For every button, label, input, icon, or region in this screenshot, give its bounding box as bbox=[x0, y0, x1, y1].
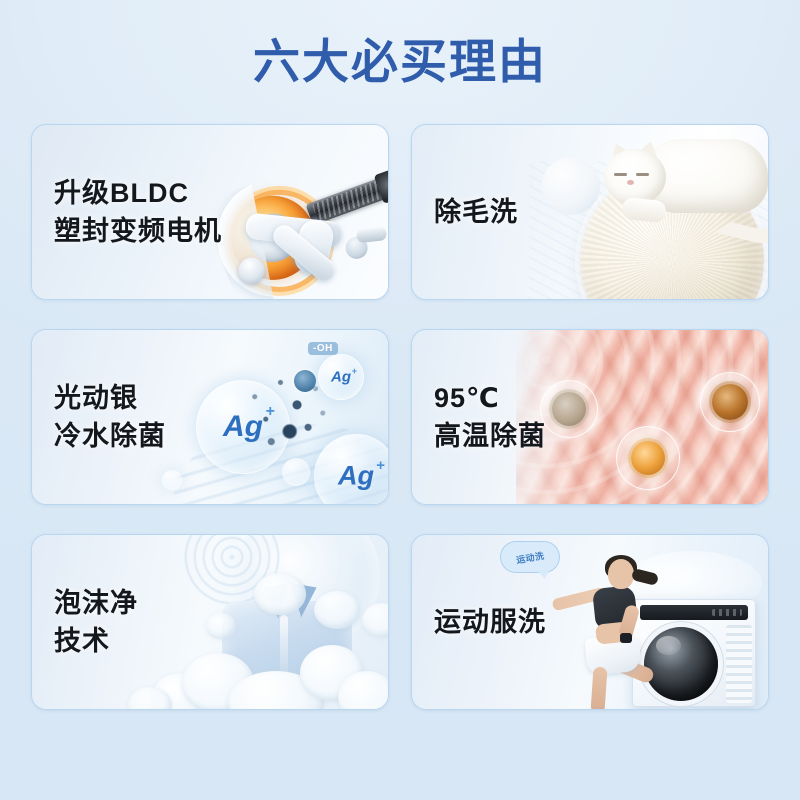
promo-page: 六大必买理由 bbox=[0, 0, 800, 800]
feature-label-line1: 运动服洗 bbox=[434, 607, 546, 637]
feature-card-high-temp-sterilize[interactable]: 95℃高温除菌 bbox=[411, 329, 769, 505]
bacteria-icon bbox=[712, 384, 748, 420]
feature-card-label: 升级BLDC塑封变频电机 bbox=[54, 174, 222, 250]
feature-label-line2: 技术 bbox=[54, 626, 110, 656]
cat-icon bbox=[598, 133, 768, 231]
feature-card-foam-clean[interactable]: 泡沫净技术 bbox=[31, 534, 389, 710]
feature-label-line2: 冷水除菌 bbox=[54, 421, 166, 451]
feature-card-pet-hair-wash[interactable]: 除毛洗 bbox=[411, 124, 769, 300]
shirt-collar-right bbox=[285, 583, 316, 619]
woman-leg-front bbox=[590, 667, 607, 709]
feature-card-label: 运动服洗 bbox=[434, 603, 546, 641]
cat-paw bbox=[621, 197, 667, 223]
speech-bubble-text: 运动洗 bbox=[515, 548, 545, 566]
silver-ion-bubble-small bbox=[162, 470, 182, 490]
feature-label-line2: 高温除菌 bbox=[434, 421, 546, 451]
cat-eye-left bbox=[614, 173, 627, 176]
silver-ion-bubble-small bbox=[282, 458, 310, 486]
shirt-icon bbox=[222, 579, 352, 689]
feature-label-line1: 除毛洗 bbox=[434, 197, 518, 227]
bracket-knob bbox=[236, 255, 267, 286]
oh-radical-badge: -OH bbox=[308, 342, 338, 355]
silver-ion-bubble: Ag + bbox=[318, 354, 364, 400]
feature-label-line2: 塑封变频电机 bbox=[54, 216, 222, 246]
washer-side-vents bbox=[726, 625, 752, 703]
page-title: 六大必买理由 bbox=[253, 36, 547, 88]
feature-label-line1: 光动银 bbox=[54, 383, 138, 413]
feature-card-label: 光动银冷水除菌 bbox=[54, 379, 166, 455]
bacteria-icon bbox=[631, 441, 665, 475]
smart-watch-icon bbox=[620, 633, 632, 643]
feature-card-label: 泡沫净技术 bbox=[54, 584, 138, 660]
speech-bubble: 运动洗 bbox=[500, 541, 560, 573]
bracket-pin bbox=[356, 226, 387, 243]
woman-ponytail bbox=[631, 568, 659, 586]
page-title-wrap: 六大必买理由 bbox=[0, 36, 800, 88]
feature-label-line1: 泡沫净 bbox=[54, 588, 138, 618]
feature-card-label: 95℃高温除菌 bbox=[434, 379, 546, 455]
ag-plus-superscript: + bbox=[352, 366, 357, 376]
germ-icon bbox=[294, 370, 316, 392]
bacteria-icon bbox=[552, 392, 586, 426]
woman-head bbox=[608, 559, 634, 589]
cat-eye-right bbox=[636, 173, 649, 176]
feature-card-bldc-motor[interactable]: 升级BLDC塑封变频电机 bbox=[31, 124, 389, 300]
ag-plus-superscript: + bbox=[376, 457, 385, 474]
bacteria-magnifier-circle bbox=[616, 426, 680, 490]
cat-nose bbox=[627, 180, 634, 185]
feature-card-label: 除毛洗 bbox=[434, 193, 518, 231]
feature-label-line1: 升级BLDC bbox=[54, 178, 189, 208]
feature-card-grid: 升级BLDC塑封变频电机 bbox=[31, 124, 769, 710]
cat-head bbox=[604, 149, 666, 205]
feature-card-silver-ion[interactable]: Ag + Ag + Ag + -OH bbox=[31, 329, 389, 505]
bacteria-magnifier-circle bbox=[540, 380, 598, 438]
feature-label-line1: 95℃ bbox=[434, 383, 500, 413]
woman-sportswear-figure bbox=[548, 551, 668, 709]
shirt-placket bbox=[280, 615, 288, 685]
bacteria-magnifier-circle bbox=[700, 372, 760, 432]
feature-card-sportswear-wash[interactable]: 运动洗 运动服洗 bbox=[411, 534, 769, 710]
